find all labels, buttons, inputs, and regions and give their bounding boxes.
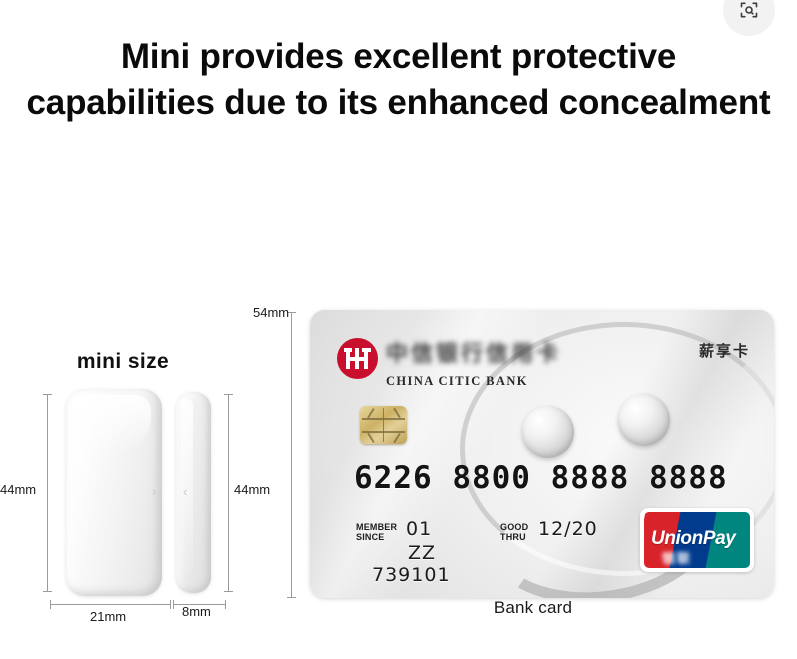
issuer-english-name: CHINA CITIC BANK (386, 374, 561, 389)
card-product-name-cn: 薪享卡 (699, 340, 750, 361)
unionpay-wordmark: UnionPay (651, 528, 750, 550)
mini-size-caption: mini size (63, 350, 183, 374)
dim-line-mini-height (47, 394, 48, 591)
unionpay-logo-icon: UnionPay 银联 (640, 508, 754, 572)
good-thru-label: GOOD THRU (500, 523, 528, 543)
sensor-body (66, 389, 162, 596)
citic-bank-branding: 中信银行信用卡 CHINA CITIC BANK (337, 338, 561, 389)
dim-line-body-width (50, 604, 170, 605)
citic-logo-icon (337, 338, 378, 379)
bank-card-caption: Bank card (443, 598, 623, 618)
unionpay-chinese-blurred: 银联 (662, 548, 692, 567)
dim-tick (173, 600, 174, 609)
member-since-label: MEMBER SINCE (356, 523, 397, 543)
good-thru-value: 12/20 (538, 518, 598, 540)
holder-initials: ZZ (408, 542, 436, 564)
align-mark-right: ‹ (183, 485, 187, 498)
bank-card: 中信银行信用卡 CHINA CITIC BANK 薪享卡 6226 8800 8… (310, 310, 774, 598)
dim-label-magnet-width: 8mm (182, 604, 211, 619)
dim-tick (224, 591, 233, 592)
dim-tick (170, 600, 171, 609)
align-mark-left: › (152, 485, 156, 498)
dim-tick (224, 394, 233, 395)
dim-label-card-height: 54mm (253, 305, 289, 320)
magnet-strip (176, 392, 211, 593)
dim-label-mini-height-right: 44mm (234, 482, 270, 497)
infographic-canvas: Mini provides excellent protective capab… (0, 0, 797, 659)
issuer-chinese-name-blurred: 中信银行信用卡 (386, 336, 561, 368)
dim-tick (225, 600, 226, 609)
dim-label-mini-height-left: 44mm (0, 482, 36, 497)
dim-label-body-width: 21mm (90, 609, 126, 624)
dim-tick (287, 597, 296, 598)
headline: Mini provides excellent protective capab… (24, 34, 773, 125)
search-scan-icon (739, 0, 759, 20)
member-since-line2: SINCE (356, 533, 397, 543)
emv-chip-icon (360, 406, 407, 444)
member-since-value: 01 (406, 518, 432, 540)
dim-line-magnet-height (228, 394, 229, 591)
card-number: 6226 8800 8888 8888 (354, 460, 728, 496)
dim-tick (43, 591, 52, 592)
dim-tick (50, 600, 51, 609)
dim-line-card-height (291, 312, 292, 598)
good-thru-line2: THRU (500, 533, 528, 543)
search-scan-button[interactable] (723, 0, 775, 36)
holder-code: 739101 (372, 564, 451, 586)
dim-tick (43, 394, 52, 395)
